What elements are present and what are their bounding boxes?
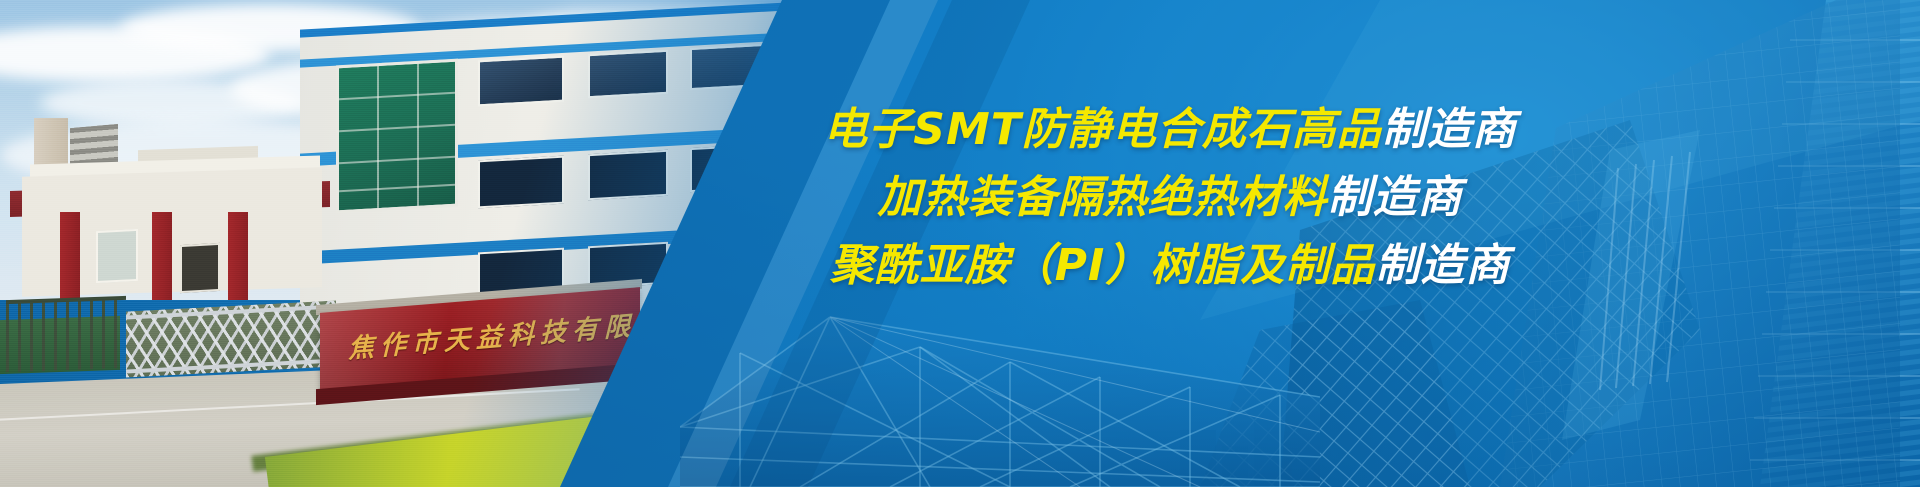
headline-line-1: 电子SMT防静电合成石高品制造商 <box>640 108 1700 152</box>
headline-2-highlight: 加热装备隔热绝热材料 <box>878 172 1328 223</box>
headline-2-suffix: 制造商 <box>1328 172 1463 223</box>
headline-line-3: 聚酰亚胺（PI）树脂及制品制造商 <box>640 244 1700 288</box>
company-hero-banner: 焦作市天益科技有限公司 电子SMT防静电合成石高品制造商 加热装备隔热绝热材料制… <box>0 0 1920 487</box>
headline-1-suffix: 制造商 <box>1382 104 1517 155</box>
headline-line-2: 加热装备隔热绝热材料制造商 <box>640 176 1700 220</box>
headline-group: 电子SMT防静电合成石高品制造商 加热装备隔热绝热材料制造商 聚酰亚胺（PI）树… <box>640 108 1700 288</box>
headline-3-suffix: 制造商 <box>1375 240 1510 291</box>
headline-1-highlight: 电子SMT防静电合成石高品 <box>823 104 1382 155</box>
headline-3-highlight: 聚酰亚胺（PI）树脂及制品 <box>830 240 1376 291</box>
